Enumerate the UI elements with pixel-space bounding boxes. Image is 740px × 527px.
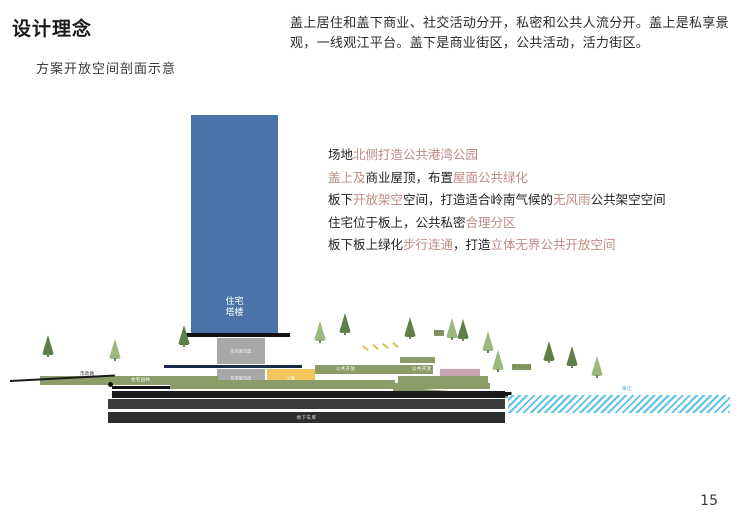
- page-subtitle: 方案开放空间剖面示意: [36, 58, 176, 77]
- street-node-marker: [108, 382, 113, 387]
- label-road: 市政路: [80, 371, 94, 377]
- bird-mark-icon: [362, 345, 369, 351]
- underground-level-1: [108, 399, 505, 409]
- label-greening: 绿化: [434, 330, 444, 336]
- park-terrace-main: [170, 383, 490, 389]
- underground-level-2: 地下车库: [108, 412, 505, 423]
- slab-middle: [164, 365, 302, 368]
- label-harbor-park: 港湾公园: [512, 364, 531, 370]
- bird-mark-icon: [392, 342, 399, 348]
- slide-root: 设计理念 方案开放空间剖面示意 盖上居住和盖下商业、社交活动分开，私密和公共人流…: [0, 0, 740, 527]
- bird-mark-icon: [382, 343, 389, 349]
- river-water: [508, 395, 730, 413]
- underground-garage-label: 地下车库: [108, 415, 505, 421]
- label-public-open-2: 公共开放: [412, 366, 431, 372]
- intro-paragraph: 盖上居住和盖下商业、社交活动分开，私密和公共人流分开。盖上是私享景观，一线观江平…: [290, 14, 730, 54]
- label-river: 珠江: [622, 386, 632, 392]
- residential-tower-label: 住宅 塔楼: [191, 297, 278, 319]
- podium-upper-label: 住宅架空层: [217, 349, 265, 354]
- residential-tower: 住宅 塔楼: [191, 115, 278, 333]
- bird-mark-icon: [372, 344, 379, 350]
- green-band-right-small: [400, 357, 435, 363]
- label-residential-garden: 住宅园林: [131, 377, 150, 383]
- ground-line: [112, 391, 505, 398]
- green-band-right-lower: [398, 376, 488, 383]
- section-diagram: 住宅 塔楼 住宅架空层 住宅架空层 公寓: [0, 95, 740, 425]
- slab-upper: [184, 333, 290, 337]
- page-number: 15: [700, 493, 718, 509]
- podium-upper-block: 住宅架空层: [217, 338, 265, 364]
- page-title: 设计理念: [12, 14, 92, 41]
- label-public-open-1: 公共开放: [336, 366, 355, 372]
